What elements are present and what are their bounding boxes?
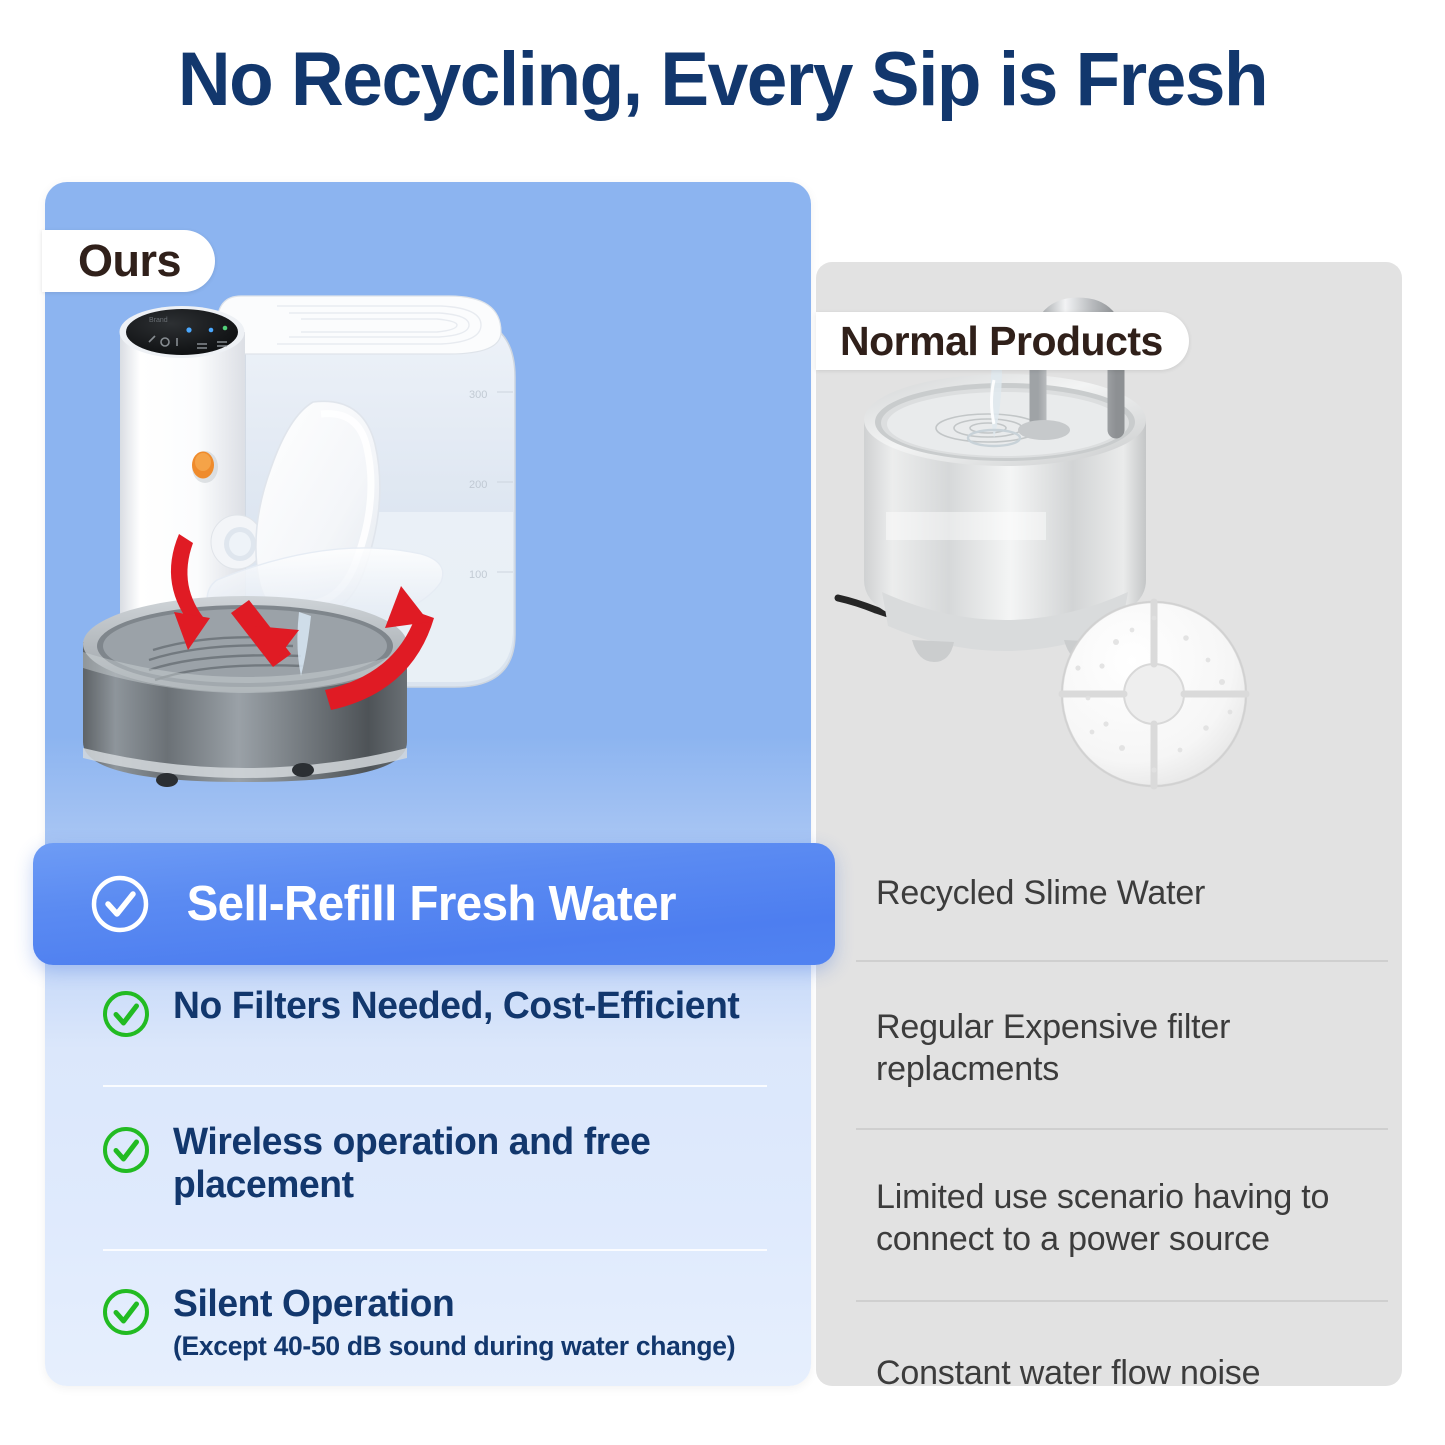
feature-title: Wireless operation and free placement [173, 1121, 683, 1206]
con-divider [856, 1128, 1388, 1130]
highlight-banner: Sell-Refill Fresh Water [33, 843, 835, 965]
normal-products-badge: Normal Products [816, 312, 1189, 370]
highlight-label: Sell-Refill Fresh Water [187, 876, 676, 932]
page-title: No Recycling, Every Sip is Fresh [29, 36, 1416, 123]
con-divider [856, 960, 1388, 962]
ours-badge: Ours [42, 230, 215, 292]
feature-body: Wireless operation and free placement [173, 1121, 693, 1206]
con-text: Recycled Slime Water [876, 872, 1205, 914]
feature-body: No Filters Needed, Cost-Efficient [173, 985, 751, 1028]
con-text: Constant water flow noise [876, 1352, 1260, 1394]
ours-badge-label: Ours [78, 235, 181, 287]
feature-item-silent: Silent Operation (Except 40-50 dB sound … [45, 1283, 811, 1387]
con-text: Limited use scenario having to connect t… [876, 1176, 1372, 1260]
circle-check-icon [101, 989, 151, 1039]
feature-subtitle: (Except 40-50 dB sound during water chan… [173, 1330, 735, 1362]
feature-title: Silent Operation [173, 1283, 735, 1326]
feature-title: No Filters Needed, Cost-Efficient [173, 985, 739, 1028]
con-divider [856, 1300, 1388, 1302]
con-item-filter-replacements: Regular Expensive filter replacments [816, 1006, 1402, 1106]
normal-badge-label: Normal Products [840, 318, 1163, 365]
circle-check-icon [101, 1125, 151, 1175]
feature-item-wireless: Wireless operation and free placement [45, 1121, 811, 1233]
feature-divider [103, 1085, 767, 1087]
comparison-infographic: No Recycling, Every Sip is Fresh [0, 0, 1445, 1445]
feature-divider [103, 1249, 767, 1251]
feature-body: Silent Operation (Except 40-50 dB sound … [173, 1283, 747, 1362]
con-item-flow-noise: Constant water flow noise [816, 1352, 1402, 1410]
circle-check-icon [89, 873, 151, 935]
circle-check-icon [101, 1287, 151, 1337]
feature-item-no-filters: No Filters Needed, Cost-Efficient [45, 985, 811, 1061]
con-item-recycled-water: Recycled Slime Water [816, 872, 1402, 930]
con-item-power-source: Limited use scenario having to connect t… [816, 1176, 1402, 1276]
ours-feature-list: No Filters Needed, Cost-Efficient Wirele… [45, 985, 811, 1387]
con-text: Regular Expensive filter replacments [876, 1006, 1296, 1090]
normal-con-list: Recycled Slime Water Regular Expensive f… [816, 872, 1402, 1410]
